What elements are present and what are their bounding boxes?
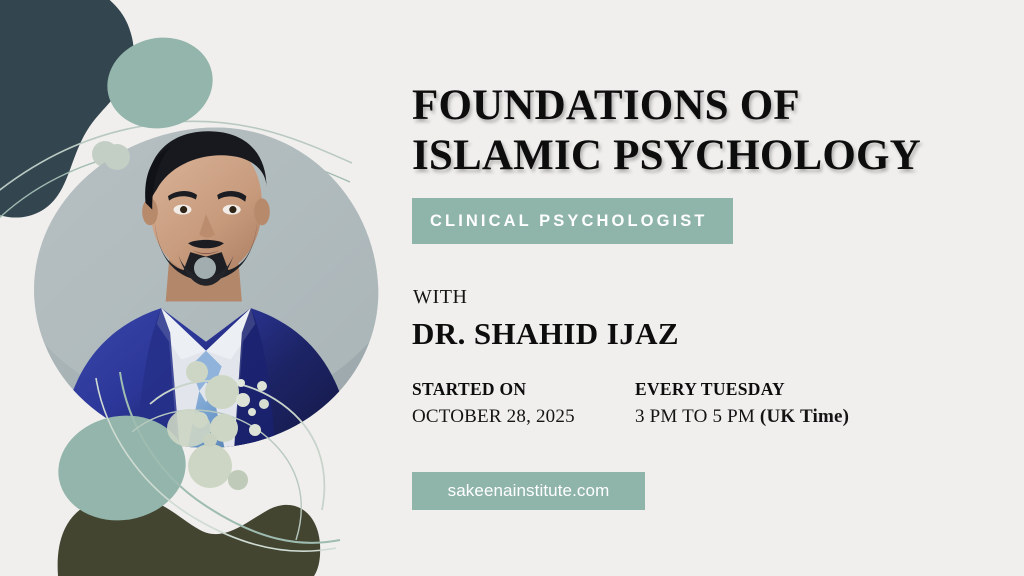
website-badge-label: sakeenainstitute.com (448, 481, 610, 501)
sage-ellipse-top (99, 28, 221, 138)
schedule-block: STARTED ON OCTOBER 28, 2025 EVERY TUESDA… (412, 378, 849, 430)
pupil-right (229, 206, 236, 213)
portrait-photo (26, 119, 386, 457)
pupil-left (180, 206, 187, 213)
schedule-start-heading: STARTED ON (412, 378, 635, 400)
schedule-recurrence-value: 3 PM TO 5 PM (UK Time) (635, 404, 849, 430)
schedule-start-column: STARTED ON OCTOBER 28, 2025 (412, 378, 635, 430)
title-line-1: FOUNDATIONS OF (412, 82, 800, 129)
speaker-prefix: WITH (413, 286, 468, 309)
ear-right (254, 198, 270, 225)
page-title: FOUNDATIONS OF ISLAMIC PSYCHOLOGY (412, 81, 1012, 181)
website-badge[interactable]: sakeenainstitute.com (412, 472, 645, 510)
title-line-2: ISLAMIC PSYCHOLOGY (412, 131, 1012, 181)
role-badge-label: CLINICAL PSYCHOLOGIST (412, 212, 707, 231)
speaker-name: DR. SHAHID IJAZ (412, 316, 679, 352)
content-column: FOUNDATIONS OF ISLAMIC PSYCHOLOGY CLINIC… (412, 0, 1024, 576)
schedule-time: 3 PM TO 5 PM (635, 406, 760, 427)
portrait-illustration-svg (26, 119, 386, 457)
status-badge: CLINICAL PSYCHOLOGIST (412, 198, 733, 244)
schedule-recurrence-heading: EVERY TUESDAY (635, 378, 849, 400)
poster-canvas: FOUNDATIONS OF ISLAMIC PSYCHOLOGY CLINIC… (0, 0, 1024, 576)
schedule-timezone: (UK Time) (760, 406, 849, 427)
schedule-recurrence-column: EVERY TUESDAY 3 PM TO 5 PM (UK Time) (635, 378, 849, 430)
schedule-start-value: OCTOBER 28, 2025 (412, 404, 635, 430)
portrait-clip-mask (26, 119, 386, 457)
olive-blob (58, 496, 321, 576)
celadon-circle (188, 444, 232, 488)
celadon-circle (228, 470, 248, 490)
speaker-portrait (34, 128, 378, 448)
